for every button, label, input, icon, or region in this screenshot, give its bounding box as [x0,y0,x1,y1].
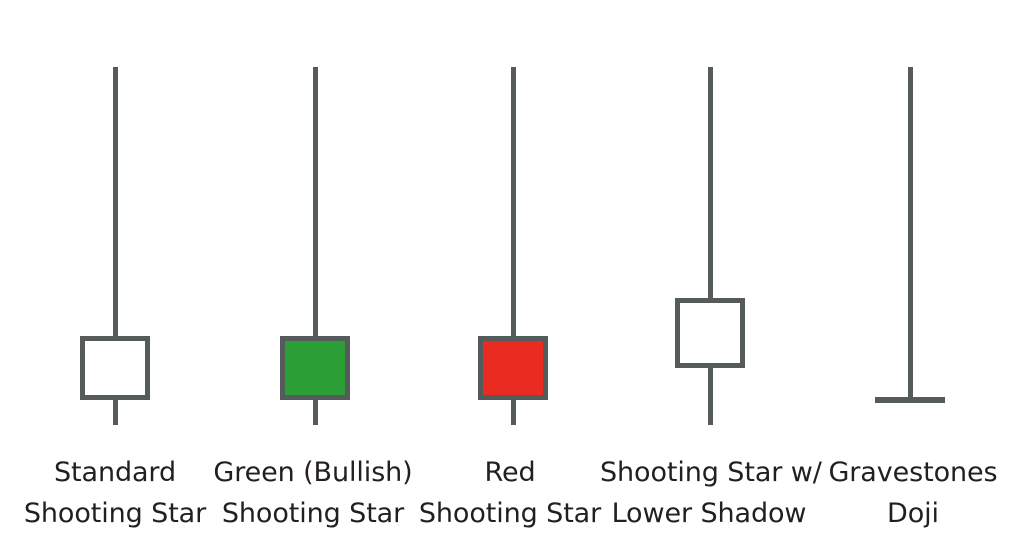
label-line-2: Doji [812,493,1014,534]
label-line-1: Shooting Star w/ [600,452,818,493]
label-line-2: Shooting Star [412,493,608,534]
label-line-1: Red [412,452,608,493]
candle-standard-shooting-star [80,0,150,448]
upper-shadow [113,67,118,336]
label-line-1: Gravestones [812,452,1014,493]
candle-red-shooting-star [478,0,548,448]
label-line-2: Shooting Star [212,493,414,534]
lower-shadow [313,400,318,425]
label-line-1: Green (Bullish) [212,452,414,493]
label-standard-shooting-star: Standard Shooting Star [10,452,220,534]
candle-body [280,336,350,400]
candlestick-row [0,0,1024,448]
upper-shadow [708,67,713,298]
upper-shadow [313,67,318,336]
label-green-bullish-shooting-star: Green (Bullish) Shooting Star [212,452,414,534]
candle-body [80,336,150,400]
upper-shadow [908,67,913,403]
label-line-1: Standard [10,452,220,493]
upper-shadow [511,67,516,336]
lower-shadow [113,400,118,425]
label-gravestone-doji: Gravestones Doji [812,452,1014,534]
candle-gravestone-doji [875,0,945,448]
candle-body [675,298,745,368]
candle-body [478,336,548,400]
label-line-2: Lower Shadow [600,493,818,534]
candle-green-bullish-shooting-star [280,0,350,448]
candlestick-figure: Standard Shooting Star Green (Bullish) S… [0,0,1024,559]
lower-shadow [708,368,713,425]
candle-shooting-star-with-lower-shadow [675,0,745,448]
candlestick-labels-row: Standard Shooting Star Green (Bullish) S… [0,452,1024,559]
label-line-2: Shooting Star [10,493,220,534]
lower-shadow [511,400,516,425]
label-red-shooting-star: Red Shooting Star [412,452,608,534]
label-shooting-star-with-lower-shadow: Shooting Star w/ Lower Shadow [600,452,818,534]
doji-open-close-bar [875,397,945,403]
